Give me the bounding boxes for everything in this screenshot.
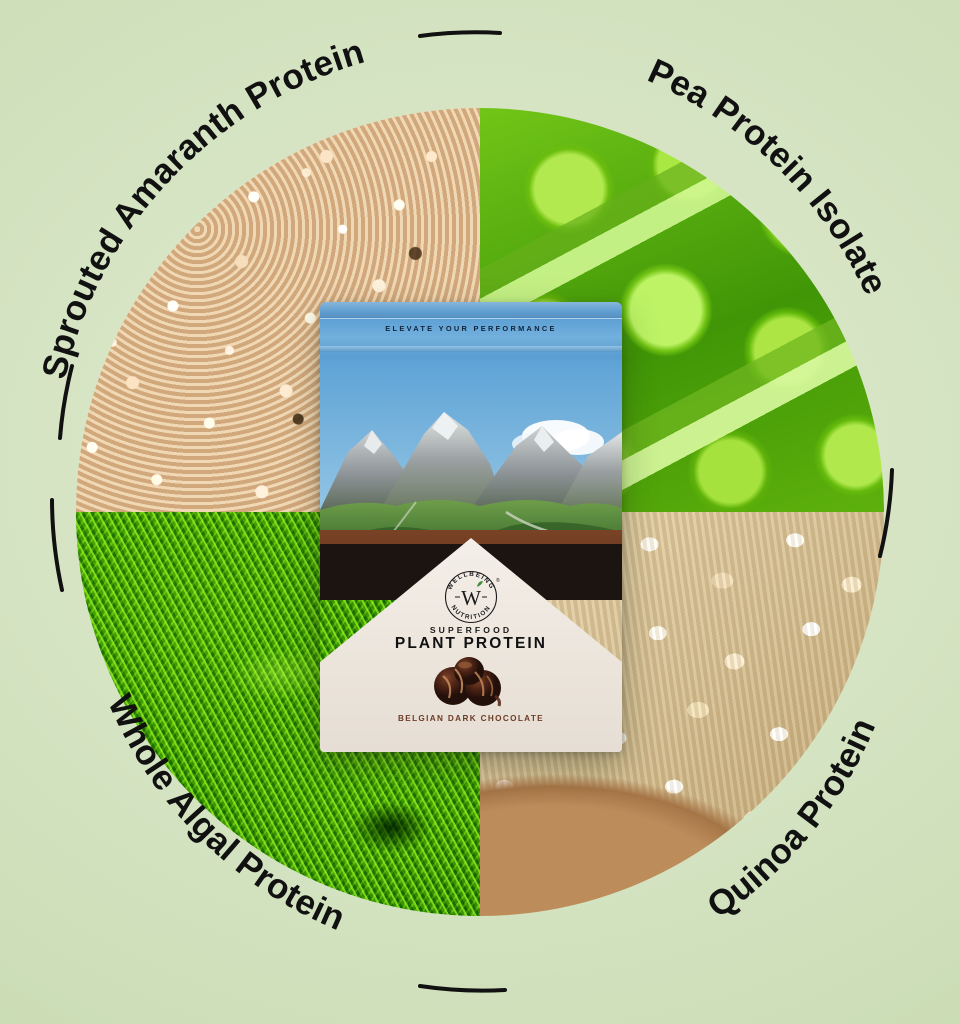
flavour-label: BELGIAN DARK CHOCOLATE xyxy=(398,714,544,723)
wellbeing-nutrition-logo: WELLBEING NUTRITION W ® xyxy=(440,566,502,628)
ring-arc-left-lower xyxy=(52,500,62,590)
pouch-seal-crease xyxy=(320,346,622,352)
svg-text:®: ® xyxy=(496,577,500,584)
ring-arc-left-upper xyxy=(60,366,72,438)
pouch-seal xyxy=(320,302,622,319)
product-tagline: ELEVATE YOUR PERFORMANCE xyxy=(320,324,622,333)
product-name-label: PLANT PROTEIN xyxy=(395,635,547,653)
product-line-label: SUPERFOOD xyxy=(430,625,512,635)
ring-arc-top xyxy=(420,32,500,36)
chocolate-truffles-image xyxy=(425,656,517,708)
product-pouch[interactable]: ELEVATE YOUR PERFORMANCE xyxy=(320,302,622,752)
ring-arc-bottom xyxy=(420,986,505,991)
svg-text:W: W xyxy=(461,586,481,610)
